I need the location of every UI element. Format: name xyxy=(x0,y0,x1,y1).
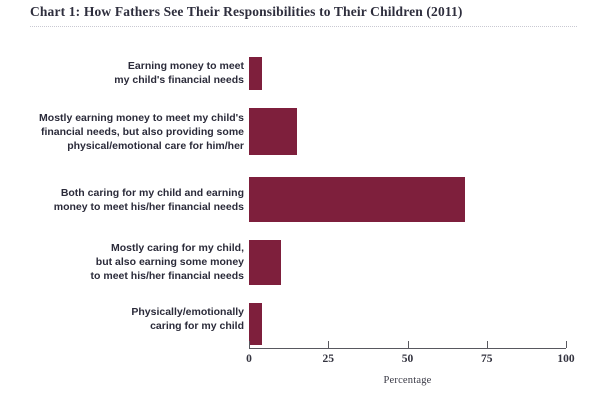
chart-container: Chart 1: How Fathers See Their Responsib… xyxy=(0,0,607,402)
x-tick-4 xyxy=(566,341,567,348)
x-tick-3 xyxy=(487,341,488,348)
x-tick-label-2: 50 xyxy=(402,353,414,365)
x-axis-title: Percentage xyxy=(249,375,566,386)
x-tick-1 xyxy=(328,341,329,348)
bar-3 xyxy=(249,240,281,285)
bar-2 xyxy=(249,177,465,222)
category-label-0: Earning money to meet my child's financi… xyxy=(114,59,244,87)
plot-area: Earning money to meet my child's financi… xyxy=(0,0,607,402)
category-label-3: Mostly caring for my child, but also ear… xyxy=(91,241,244,283)
bar-1 xyxy=(249,108,297,155)
bar-0 xyxy=(249,57,262,90)
x-tick-label-3: 75 xyxy=(481,353,493,365)
category-label-4: Physically/emotionally caring for my chi… xyxy=(131,305,244,333)
x-tick-0 xyxy=(249,341,250,348)
x-tick-2 xyxy=(408,341,409,348)
x-tick-label-4: 100 xyxy=(557,353,574,365)
x-tick-label-1: 25 xyxy=(323,353,335,365)
x-axis-line xyxy=(249,348,566,349)
category-label-1: Mostly earning money to meet my child's … xyxy=(39,111,244,153)
bar-4 xyxy=(249,303,262,345)
category-label-2: Both caring for my child and earning mon… xyxy=(54,186,244,214)
x-tick-label-0: 0 xyxy=(246,353,252,365)
